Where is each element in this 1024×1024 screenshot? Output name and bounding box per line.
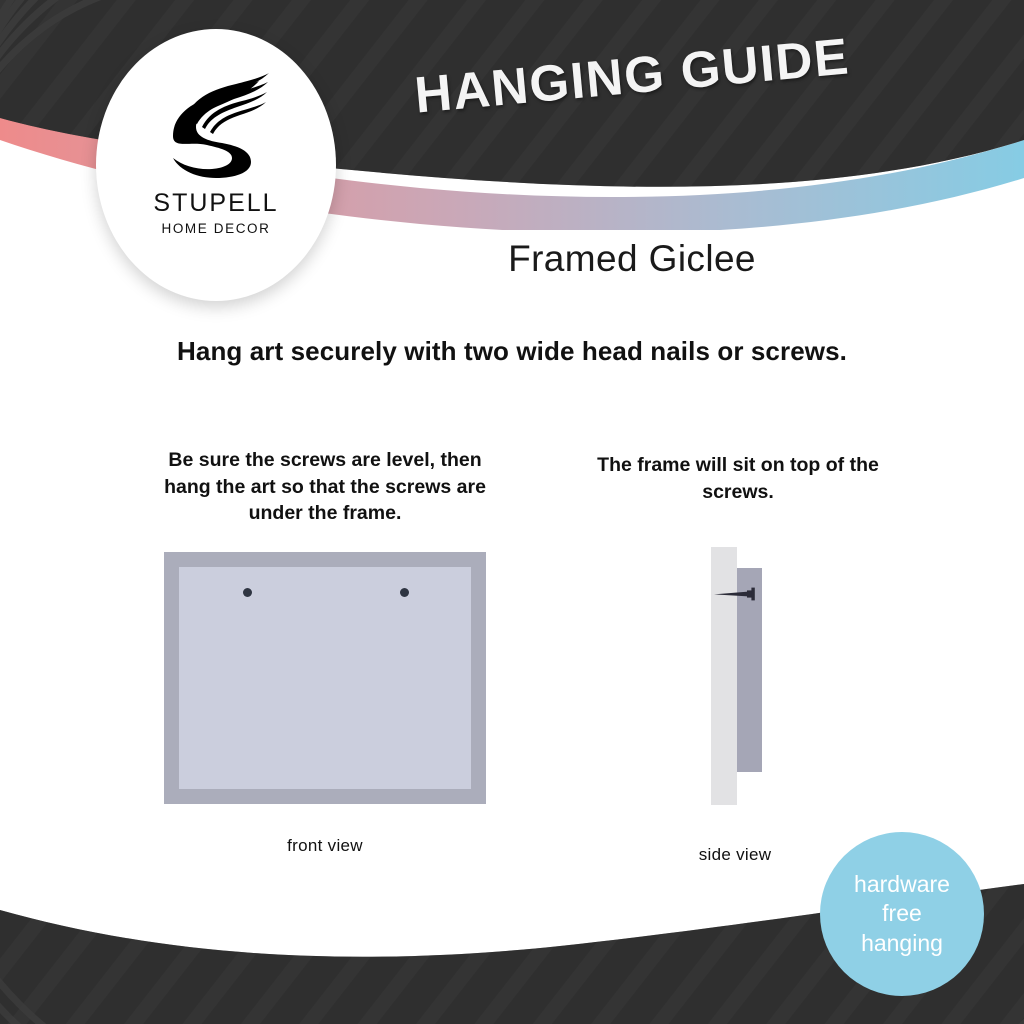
screw-dot-right	[400, 588, 409, 597]
stupell-swirl-icon	[156, 63, 276, 183]
product-type-heading: Framed Giclee	[372, 238, 892, 280]
nail-icon	[714, 587, 760, 601]
front-view-mat	[179, 567, 471, 789]
front-view-label: front view	[175, 836, 475, 856]
front-view-caption: Be sure the screws are level, then hang …	[155, 447, 495, 527]
page-title: HANGING GUIDE	[370, 23, 893, 129]
hanging-guide-page: STUPELL HOME DECOR HANGING GUIDE Framed …	[0, 0, 1024, 1024]
intro-instruction: Hang art securely with two wide head nai…	[0, 336, 1024, 367]
badge-line-3: hanging	[861, 929, 943, 958]
side-view-label: side view	[640, 845, 830, 865]
logo-subtitle: HOME DECOR	[161, 221, 270, 236]
front-view-diagram	[164, 552, 486, 804]
logo-badge: STUPELL HOME DECOR	[96, 29, 336, 301]
hardware-free-hanging-badge: hardware free hanging	[820, 832, 984, 996]
screw-dot-left	[243, 588, 252, 597]
side-view-diagram	[711, 547, 801, 809]
side-view-wall	[711, 547, 737, 805]
badge-line-1: hardware	[854, 870, 950, 899]
badge-line-2: free	[882, 899, 922, 928]
side-view-caption: The frame will sit on top of the screws.	[588, 452, 888, 505]
logo-name: STUPELL	[153, 189, 278, 218]
